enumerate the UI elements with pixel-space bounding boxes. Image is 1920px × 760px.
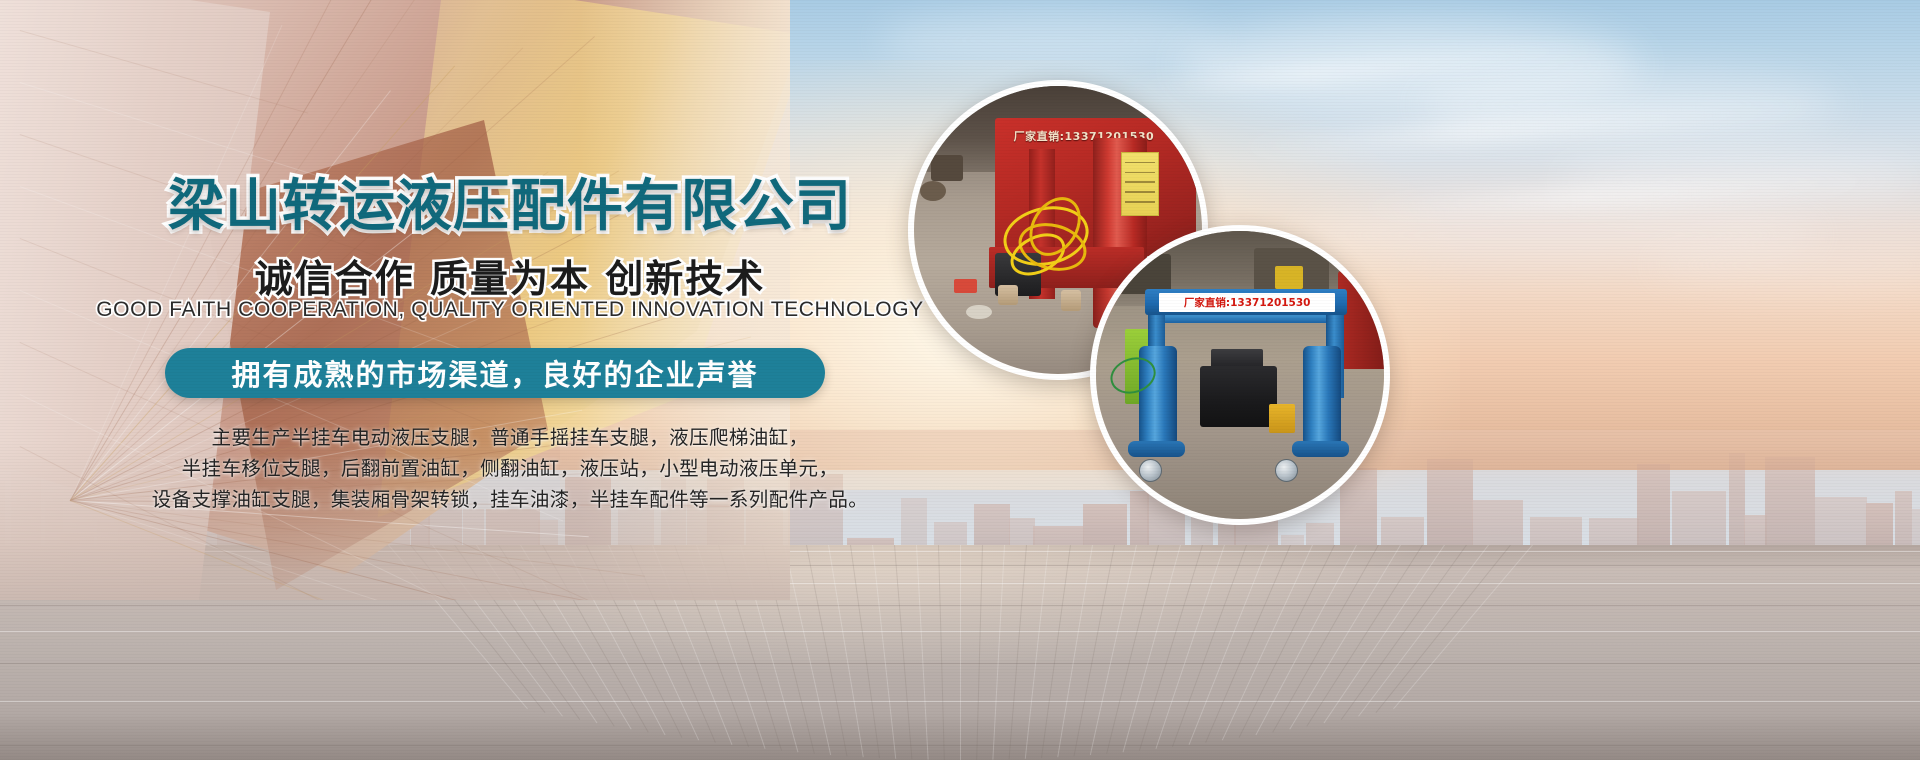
blue-machine-caster-wheel xyxy=(1275,459,1298,482)
blue-scene-red-equipment xyxy=(1338,271,1384,369)
ribbon-highlight: 拥有成熟的市场渠道，良好的企业声誉 xyxy=(165,348,825,398)
description-line-2: 半挂车移位支腿，后翻前置油缸，侧翻油缸，液压站，小型电动液压单元， xyxy=(0,453,1020,484)
red-scene-debris xyxy=(966,305,992,319)
blue-machine-base-pad xyxy=(1128,441,1186,457)
blue-machine-banner: 厂家直销:13371201530 xyxy=(1159,293,1335,312)
banner-text-column: 梁山转运液压配件有限公司 诚信合作 质量为本 创新技术 GOOD FAITH C… xyxy=(0,0,1020,760)
cloud xyxy=(1650,240,1920,290)
product-photo-blue[interactable]: 厂家直销:13371201530 xyxy=(1090,225,1390,525)
blue-machine-cylinder xyxy=(1303,346,1340,444)
blue-machine-photo: 厂家直销:13371201530 xyxy=(1096,231,1384,519)
blue-scene-debris xyxy=(1275,266,1304,289)
red-scene-debris xyxy=(931,155,963,181)
description-line-3: 设备支撑油缸支腿，集装厢骨架转锁，挂车油漆，半挂车配件等一系列配件产品。 xyxy=(0,484,1020,515)
blue-machine-banner-text: 厂家直销:13371201530 xyxy=(1184,295,1311,310)
ribbon-text: 拥有成熟的市场渠道，良好的企业声誉 xyxy=(231,352,758,394)
red-scene-debris xyxy=(920,181,946,201)
red-machine-foot xyxy=(998,285,1018,305)
description-line-1: 主要生产半挂车电动液压支腿，普通手摇挂车支腿，液压爬梯油缸， xyxy=(0,422,1020,453)
blue-machine-control-box xyxy=(1269,404,1295,433)
blue-machine-crossbar xyxy=(1151,315,1341,324)
company-title: 梁山转运液压配件有限公司 xyxy=(0,161,1020,242)
blue-machine-caster-wheel xyxy=(1139,459,1162,482)
blue-machine-pump xyxy=(1200,366,1278,426)
red-machine-warning-label xyxy=(1121,152,1158,215)
red-machine-foot xyxy=(1061,290,1081,310)
red-scene-debris xyxy=(954,279,977,293)
hero-banner: 梁山转运液压配件有限公司 诚信合作 质量为本 创新技术 GOOD FAITH C… xyxy=(0,0,1920,760)
product-description: 主要生产半挂车电动液压支腿，普通手摇挂车支腿，液压爬梯油缸， 半挂车移位支腿，后… xyxy=(0,422,1020,515)
slogan-english: GOOD FAITH COOPERATION, QUALITY ORIENTED… xyxy=(0,298,1020,322)
slogan-chinese: 诚信合作 质量为本 创新技术 xyxy=(0,248,1020,303)
blue-machine-base-pad xyxy=(1292,441,1350,457)
